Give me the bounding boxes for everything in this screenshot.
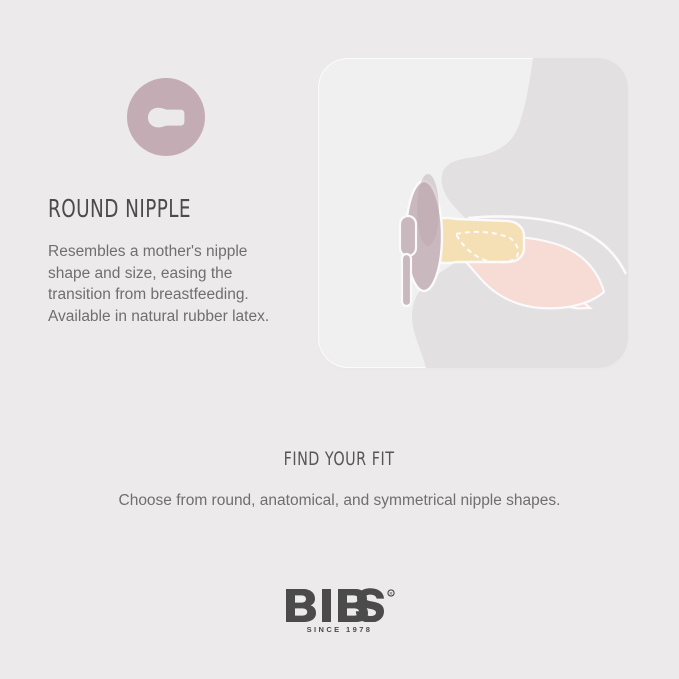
feature-description: Resembles a mother's nipple shape and si… — [48, 241, 286, 327]
feature-section: ROUND NIPPLE Resembles a mother's nipple… — [0, 0, 679, 400]
letter-b-1 — [286, 589, 316, 622]
round-nipple-shape-icon — [127, 78, 205, 156]
brand-wordmark: R — [284, 588, 396, 622]
letter-s — [355, 588, 383, 622]
brand-logo: R SINCE 1978 — [0, 588, 679, 637]
pacifier-shield-highlight — [417, 174, 439, 246]
illustration-panel — [318, 58, 628, 368]
head-silhouette — [412, 58, 628, 368]
letter-i — [322, 589, 331, 622]
svg-text:R: R — [389, 591, 392, 596]
baby-head-pacifier-diagram — [318, 58, 628, 368]
find-your-fit-heading-text: FIND YOUR FIT — [284, 448, 395, 470]
find-your-fit-subtitle: Choose from round, anatomical, and symme… — [0, 492, 679, 510]
find-your-fit-heading: FIND YOUR FIT — [0, 448, 679, 470]
pacifier-handle-base — [400, 216, 416, 256]
pacifier-handle-ring — [402, 254, 411, 306]
brand-tagline: SINCE 1978 — [284, 625, 396, 634]
feature-text-column: ROUND NIPPLE Resembles a mother's nipple… — [48, 58, 298, 327]
heart-glyph — [296, 596, 302, 601]
feature-title: ROUND NIPPLE — [48, 194, 253, 223]
